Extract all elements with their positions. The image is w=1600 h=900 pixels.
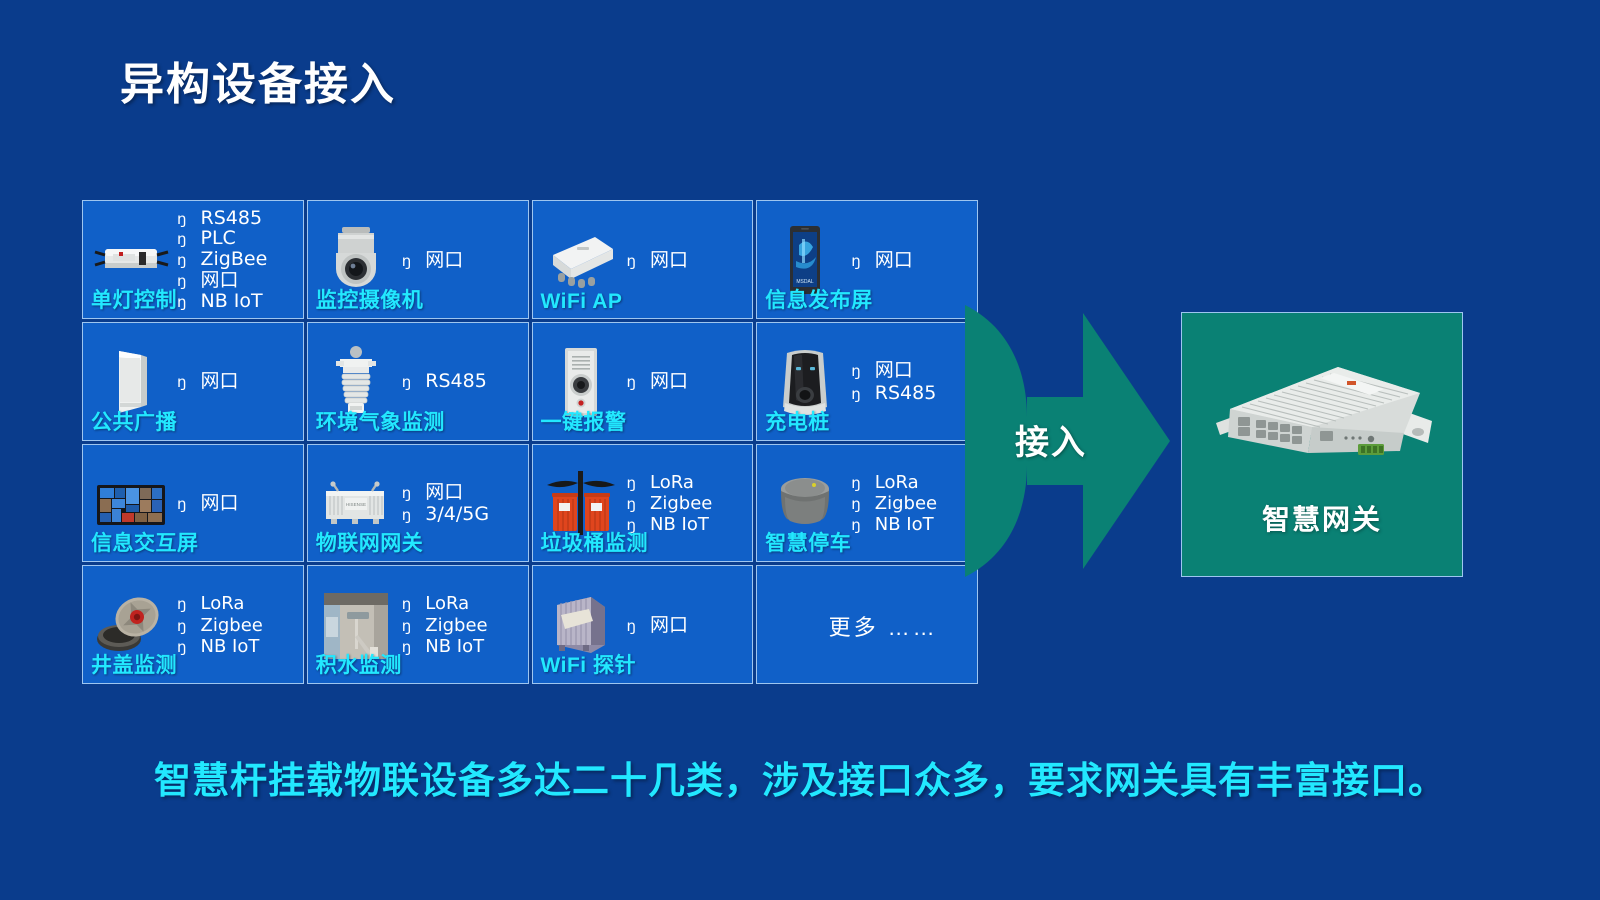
interface-label: NB IoT — [650, 515, 709, 535]
interface-item: ŋRS485 — [402, 371, 524, 392]
bullet-icon: ŋ — [627, 496, 637, 513]
device-cell[interactable]: ŋLoRaŋZigbeeŋNB IoT积水监测 — [307, 565, 529, 684]
interface-list: ŋRS485ŋPLCŋZigBeeŋ网口ŋNB IoT — [173, 209, 299, 313]
interface-list: ŋ网口 — [847, 250, 973, 271]
bullet-icon: ŋ — [177, 232, 187, 248]
device-label: 智慧停车 — [765, 527, 851, 557]
bullet-icon: ŋ — [177, 374, 187, 391]
device-grid: ŋRS485ŋPLCŋZigBeeŋ网口ŋNB IoT单灯控制 ŋ网口监控摄像机… — [82, 200, 978, 684]
interface-label: 3/4/5G — [425, 504, 489, 525]
interface-item: ŋLoRa — [177, 594, 299, 614]
interface-label: 网口 — [650, 250, 688, 271]
interface-list: ŋLoRaŋZigbeeŋNB IoT — [173, 594, 299, 656]
device-label: 充电桩 — [765, 406, 830, 436]
device-cell[interactable]: ŋRS485ŋPLCŋZigBeeŋ网口ŋNB IoT单灯控制 — [82, 200, 304, 319]
device-cell[interactable]: ŋLoRaŋZigbeeŋNB IoT智慧停车 — [756, 444, 978, 563]
gateway-panel: 智慧网关 — [1181, 312, 1463, 577]
bullet-icon: ŋ — [402, 374, 412, 391]
interface-item: ŋZigbee — [627, 494, 749, 514]
interface-label: RS485 — [875, 383, 937, 404]
bullet-icon: ŋ — [177, 274, 187, 290]
interface-label: NB IoT — [201, 637, 260, 657]
bullet-icon: ŋ — [177, 639, 187, 656]
interface-label: 网口 — [201, 493, 239, 514]
interface-item: ŋ网口 — [177, 371, 299, 392]
interface-list: ŋLoRaŋZigbeeŋNB IoT — [847, 473, 973, 535]
bullet-icon: ŋ — [851, 253, 861, 270]
interface-item: ŋNB IoT — [402, 637, 524, 657]
interface-item: ŋ网口 — [402, 482, 524, 503]
interface-item: ŋZigBee — [177, 250, 299, 270]
device-label: 监控摄像机 — [316, 284, 424, 314]
interface-item: ŋ3/4/5G — [402, 504, 524, 525]
bullet-icon: ŋ — [627, 374, 637, 391]
interface-item: ŋLoRa — [402, 594, 524, 614]
interface-label: LoRa — [875, 473, 919, 493]
interface-item: ŋ网口 — [402, 250, 524, 271]
interface-item: ŋNB IoT — [177, 292, 299, 312]
interface-item: ŋPLC — [177, 229, 299, 249]
bullet-icon: ŋ — [402, 253, 412, 270]
device-cell[interactable]: ŋ网口WiFi AP — [532, 200, 754, 319]
gateway-label: 智慧网关 — [1182, 498, 1462, 538]
interface-item: ŋZigbee — [402, 616, 524, 636]
bullet-icon: ŋ — [177, 596, 187, 613]
interface-list: ŋLoRaŋZigbeeŋNB IoT — [623, 473, 749, 535]
page-title: 异构设备接入 — [120, 48, 396, 112]
bullet-icon: ŋ — [851, 475, 861, 492]
device-label: 物联网网关 — [316, 527, 424, 557]
interface-label: Zigbee — [201, 616, 263, 636]
device-label: 信息交互屏 — [91, 527, 199, 557]
device-cell-body: 更多 …… — [757, 566, 977, 683]
interface-list: ŋ网口 — [623, 371, 749, 392]
interface-label: LoRa — [650, 473, 694, 493]
wifi-ap-device-icon — [539, 221, 623, 299]
bullet-icon: ŋ — [627, 618, 637, 635]
device-cell[interactable]: ŋ网口公共广播 — [82, 322, 304, 441]
interface-item: ŋ网口 — [627, 250, 749, 271]
interface-label: 网口 — [875, 250, 913, 271]
bullet-icon: ŋ — [851, 363, 861, 380]
interface-list: ŋ网口 — [173, 371, 299, 392]
interface-item: ŋ网口 — [851, 250, 973, 271]
interface-label: 网口 — [650, 615, 688, 636]
interface-label: 网口 — [201, 271, 239, 291]
interface-list: ŋ网口 — [173, 493, 299, 514]
bullet-icon: ŋ — [402, 639, 412, 656]
interface-label: Zigbee — [875, 494, 937, 514]
interface-item: ŋZigbee — [177, 616, 299, 636]
device-cell[interactable]: ŋ网口WiFi 探针 — [532, 565, 754, 684]
interface-item: ŋRS485 — [851, 383, 973, 404]
bullet-icon: ŋ — [177, 253, 187, 269]
bullet-icon: ŋ — [177, 295, 187, 311]
interface-list: ŋ网口 — [623, 615, 749, 636]
bullet-icon: ŋ — [627, 475, 637, 492]
interface-list: ŋ网口ŋRS485 — [847, 360, 973, 404]
interface-label: Zigbee — [425, 616, 487, 636]
bullet-icon: ŋ — [177, 618, 187, 635]
device-cell[interactable]: ŋ网口信息交互屏 — [82, 444, 304, 563]
interface-label: 网口 — [425, 250, 463, 271]
device-label: 积水监测 — [316, 649, 402, 679]
interface-item: ŋLoRa — [627, 473, 749, 493]
device-label: WiFi 探针 — [541, 649, 636, 679]
interface-label: NB IoT — [425, 637, 484, 657]
interface-label: NB IoT — [201, 292, 263, 312]
interface-list: ŋRS485 — [398, 371, 524, 392]
interface-item: ŋ网口 — [177, 493, 299, 514]
interface-label: 网口 — [650, 371, 688, 392]
interface-label: RS485 — [201, 209, 263, 229]
interface-label: NB IoT — [875, 515, 934, 535]
bullet-icon: ŋ — [402, 507, 412, 524]
device-label: 公共广播 — [91, 406, 177, 436]
interface-item: ŋ网口 — [177, 271, 299, 291]
interface-list: ŋ网口 — [398, 250, 524, 271]
interface-list: ŋ网口ŋ3/4/5G — [398, 482, 524, 526]
footer-caption: 智慧杆挂载物联设备多达二十几类，涉及接口众多，要求网关具有丰富接口。 — [0, 750, 1600, 804]
bullet-icon: ŋ — [851, 386, 861, 403]
interface-label: ZigBee — [201, 250, 268, 270]
device-label: 单灯控制 — [91, 284, 177, 314]
device-cell[interactable]: MSDAL ŋ网口信息发布屏 — [756, 200, 978, 319]
interface-item: ŋ网口 — [627, 615, 749, 636]
interface-item: ŋNB IoT — [177, 637, 299, 657]
interface-list: ŋLoRaŋZigbeeŋNB IoT — [398, 594, 524, 656]
bullet-icon: ŋ — [402, 596, 412, 613]
bullet-icon: ŋ — [177, 212, 187, 228]
device-cell[interactable]: ŋ网口监控摄像机 — [307, 200, 529, 319]
device-cell[interactable]: ŋ网口一键报警 — [532, 322, 754, 441]
device-label: WiFi AP — [541, 290, 623, 314]
bullet-icon: ŋ — [402, 618, 412, 635]
device-label: 垃圾桶监测 — [541, 527, 649, 557]
interface-label: LoRa — [201, 594, 245, 614]
arrow-label: 接入 — [1015, 415, 1087, 464]
svg-text:HISENSE: HISENSE — [346, 502, 366, 507]
industrial-gateway-device-icon — [1208, 345, 1438, 475]
interface-item: ŋRS485 — [177, 209, 299, 229]
device-cell-more[interactable]: 更多 …… — [756, 565, 978, 684]
bullet-icon: ŋ — [851, 517, 861, 534]
device-label: 一键报警 — [541, 406, 627, 436]
device-label: 环境气象监测 — [316, 406, 445, 436]
bullet-icon: ŋ — [627, 253, 637, 270]
device-label: 井盖监测 — [91, 649, 177, 679]
device-cell[interactable]: HISENSE ŋ网口ŋ3/4/5G物联网网关 — [307, 444, 529, 563]
interface-label: 网口 — [425, 482, 463, 503]
device-cell[interactable]: ŋLoRaŋZigbeeŋNB IoT井盖监测 — [82, 565, 304, 684]
bullet-icon: ŋ — [177, 496, 187, 513]
device-label: 信息发布屏 — [765, 284, 873, 314]
interface-label: 网口 — [201, 371, 239, 392]
interface-label: Zigbee — [650, 494, 712, 514]
interface-list: ŋ网口 — [623, 250, 749, 271]
interface-label: PLC — [201, 229, 236, 249]
interface-label: LoRa — [425, 594, 469, 614]
interface-item: ŋZigbee — [851, 494, 973, 514]
interface-item: ŋ网口 — [627, 371, 749, 392]
bullet-icon: ŋ — [402, 485, 412, 502]
bullet-icon: ŋ — [851, 496, 861, 513]
device-cell[interactable]: ŋRS485环境气象监测 — [307, 322, 529, 441]
interface-item: ŋ网口 — [851, 360, 973, 381]
interface-item: ŋLoRa — [851, 473, 973, 493]
more-label: 更多 …… — [763, 610, 973, 642]
device-cell[interactable]: ŋ网口ŋRS485充电桩 — [756, 322, 978, 441]
device-cell[interactable]: ŋLoRaŋZigbeeŋNB IoT垃圾桶监测 — [532, 444, 754, 563]
interface-label: RS485 — [425, 371, 487, 392]
interface-item: ŋNB IoT — [851, 515, 973, 535]
interface-label: 网口 — [875, 360, 913, 381]
